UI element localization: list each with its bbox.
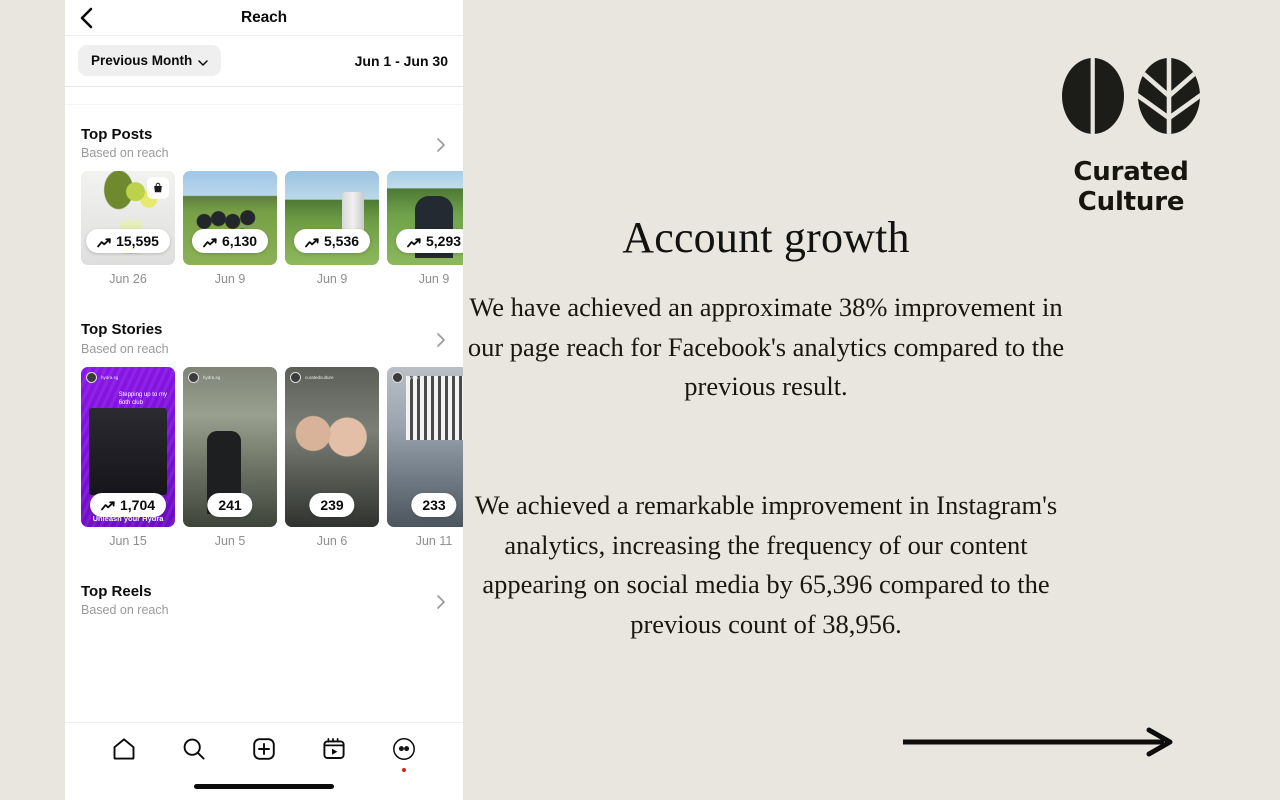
phone-header: Reach: [65, 0, 463, 36]
post-thumbnail[interactable]: 6,130: [183, 171, 277, 265]
list-item[interactable]: curatedculture 239 Jun 6: [285, 367, 379, 548]
chevron-down-icon: [198, 56, 208, 66]
avatar: [290, 372, 301, 383]
story-overlay-text: Stepping up to my 6oth club: [119, 392, 175, 407]
leaf-icon: [1136, 56, 1202, 141]
reach-badge: 239: [309, 493, 354, 517]
date-range-label: Jun 1 - Jun 30: [355, 53, 450, 69]
list-item[interactable]: hydra.sg 233 Jun 11: [387, 367, 463, 548]
reach-value: 241: [218, 497, 241, 513]
shopping-bag-icon: [147, 177, 169, 199]
post-thumbnail[interactable]: 5,293: [387, 171, 463, 265]
story-date: Jun 5: [183, 534, 277, 548]
phone-filter-bar: Previous Month Jun 1 - Jun 30: [65, 36, 463, 86]
top-stories-thumbnail-row[interactable]: hydra.sg Stepping up to my 6oth club Unl…: [65, 357, 463, 548]
reach-value: 15,595: [116, 233, 159, 249]
period-filter-chip[interactable]: Previous Month: [78, 45, 221, 76]
section-title: Top Posts: [81, 125, 169, 144]
story-author: hydra.sg: [86, 372, 118, 383]
list-item[interactable]: 5,536 Jun 9: [285, 171, 379, 286]
period-filter-label: Previous Month: [91, 53, 192, 68]
trend-up-icon: [97, 236, 111, 247]
reach-value: 5,293: [426, 233, 461, 249]
home-icon[interactable]: [109, 734, 139, 764]
phone-screenshot: Reach Previous Month Jun 1 - Jun 30 Top …: [65, 0, 463, 800]
avatar: [86, 372, 97, 383]
reels-icon[interactable]: [319, 734, 349, 764]
top-posts-thumbnail-row[interactable]: 15,595 Jun 26 6,130: [65, 161, 463, 286]
story-author: curatedculture: [290, 372, 334, 383]
list-item[interactable]: 5,293 Jun 9: [387, 171, 463, 286]
arrow-right-icon[interactable]: [900, 726, 1180, 763]
list-item[interactable]: hydra.sg Stepping up to my 6oth club Unl…: [81, 367, 175, 548]
chevron-right-icon[interactable]: [434, 330, 448, 350]
post-thumbnail[interactable]: 5,536: [285, 171, 379, 265]
reach-badge: 5,536: [294, 229, 370, 253]
reach-badge: 15,595: [86, 229, 170, 253]
reach-badge: 233: [411, 493, 456, 517]
search-icon[interactable]: [179, 734, 209, 764]
trend-up-icon: [203, 236, 217, 247]
trend-up-icon: [101, 499, 115, 510]
section-header[interactable]: Top Stories Based on reach: [65, 315, 463, 356]
story-date: Jun 6: [285, 534, 379, 548]
reach-badge: 241: [207, 493, 252, 517]
profile-avatar-icon[interactable]: [389, 734, 419, 764]
section-subtitle: Based on reach: [81, 341, 169, 357]
section-top-stories: Top Stories Based on reach hydra.sg S: [65, 315, 463, 547]
slide-paragraph-1: We have achieved an approximate 38% impr…: [466, 288, 1066, 407]
list-item[interactable]: hydra.sg 241 Jun 5: [183, 367, 277, 548]
section-header[interactable]: Top Reels Based on reach: [65, 577, 463, 618]
post-date: Jun 26: [81, 272, 175, 286]
section-subtitle: Based on reach: [81, 602, 169, 618]
post-thumbnail[interactable]: 15,595: [81, 171, 175, 265]
chevron-right-icon[interactable]: [434, 135, 448, 155]
slide-canvas: Reach Previous Month Jun 1 - Jun 30 Top …: [0, 0, 1280, 800]
list-item[interactable]: 15,595 Jun 26: [81, 171, 175, 286]
story-date: Jun 15: [81, 534, 175, 548]
section-title: Top Stories: [81, 320, 169, 339]
bottom-navigation-bar: [65, 722, 463, 800]
brand-logo: Curated Culture: [1031, 56, 1231, 217]
post-date: Jun 9: [183, 272, 277, 286]
section-subtitle: Based on reach: [81, 145, 169, 161]
story-thumbnail[interactable]: hydra.sg 241: [183, 367, 277, 527]
story-thumbnail[interactable]: hydra.sg Stepping up to my 6oth club Unl…: [81, 367, 175, 527]
reach-value: 6,130: [222, 233, 257, 249]
story-handle: hydra.sg: [407, 375, 424, 380]
story-handle: hydra.sg: [203, 375, 220, 380]
section-header[interactable]: Top Posts Based on reach: [65, 120, 463, 161]
slide-title: Account growth: [466, 212, 1066, 263]
section-title: Top Reels: [81, 582, 169, 601]
story-date: Jun 11: [387, 534, 463, 548]
reach-badge: 6,130: [192, 229, 268, 253]
brand-name: Curated Culture: [1031, 157, 1231, 217]
split-bean-icon: [1060, 56, 1126, 141]
story-handle: curatedculture: [305, 375, 334, 380]
post-date: Jun 9: [285, 272, 379, 286]
chevron-right-icon[interactable]: [434, 592, 448, 612]
reach-value: 1,704: [120, 497, 155, 513]
create-icon[interactable]: [249, 734, 279, 764]
back-chevron-icon[interactable]: [75, 7, 97, 29]
trend-up-icon: [407, 236, 421, 247]
section-top-posts: Top Posts Based on reach: [65, 120, 463, 286]
page-title: Reach: [241, 9, 287, 27]
section-top-reels: Top Reels Based on reach: [65, 577, 463, 618]
story-thumbnail[interactable]: curatedculture 239: [285, 367, 379, 527]
trend-up-icon: [305, 236, 319, 247]
reach-value: 5,536: [324, 233, 359, 249]
story-author: hydra.sg: [392, 372, 424, 383]
reach-badge: 1,704: [90, 493, 166, 517]
home-indicator-bar: [194, 784, 334, 789]
avatar: [188, 372, 199, 383]
story-author: hydra.sg: [188, 372, 220, 383]
post-date: Jun 9: [387, 272, 463, 286]
reach-value: 239: [320, 497, 343, 513]
section-spacer: [65, 87, 463, 120]
avatar: [392, 372, 403, 383]
slide-paragraph-2: We achieved a remarkable improvement in …: [466, 486, 1066, 644]
story-handle: hydra.sg: [101, 375, 118, 380]
reach-value: 233: [422, 497, 445, 513]
list-item[interactable]: 6,130 Jun 9: [183, 171, 277, 286]
story-thumbnail[interactable]: hydra.sg 233: [387, 367, 463, 527]
notification-dot: [402, 768, 406, 772]
reach-badge: 5,293: [396, 229, 463, 253]
